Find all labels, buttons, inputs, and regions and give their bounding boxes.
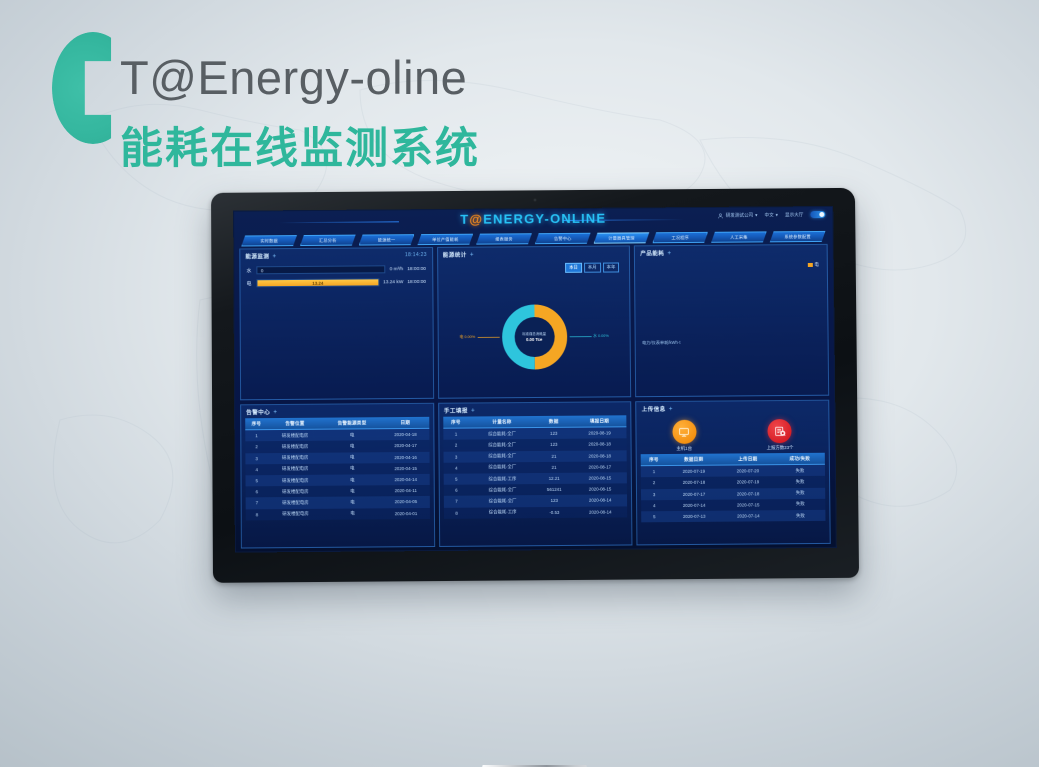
monitor: T@ENERGY-ONLINE 研发测试公司 ▾ 中文 ▾ 显示大厅 bbox=[212, 190, 857, 580]
table-cell: 4 bbox=[641, 500, 667, 511]
chart-legend: 电 bbox=[807, 262, 818, 268]
panel-header: 产品能耗 ＋ bbox=[635, 245, 827, 259]
table-cell: 123 bbox=[536, 495, 573, 507]
panel-title: 产品能耗 bbox=[640, 249, 664, 257]
table-cell: 2020-07-15 bbox=[721, 499, 775, 511]
column-header: 告警位置 bbox=[268, 418, 323, 430]
legend-swatch bbox=[807, 263, 812, 267]
column-header: 序号 bbox=[641, 454, 667, 466]
table-cell: 4 bbox=[443, 462, 469, 473]
manual-table: 序号计量名称数据填报日期1综合能耗-全厂1232020-08-192综合能耗-全… bbox=[443, 415, 628, 518]
panel-title: 能源统计 bbox=[443, 251, 467, 259]
range-btn-1[interactable]: 本月 bbox=[584, 263, 601, 273]
upload-table-wrap: 序号数据日期上传日期成功/失败12020-07-192020-07-20失败22… bbox=[637, 453, 829, 523]
range-btn-0[interactable]: 本日 bbox=[565, 263, 582, 273]
table-cell: 综合能耗-全厂 bbox=[469, 495, 535, 507]
column-header: 序号 bbox=[245, 418, 267, 430]
manual-table-wrap: 序号计量名称数据填报日期1综合能耗-全厂1232020-08-192综合能耗-全… bbox=[439, 415, 632, 518]
column-header: 日期 bbox=[382, 417, 429, 429]
table-cell: 3 bbox=[245, 453, 267, 464]
monitor-screen: T@ENERGY-ONLINE 研发测试公司 ▾ 中文 ▾ 显示大厅 bbox=[233, 206, 837, 553]
nav-item-label: 告警中心 bbox=[554, 235, 572, 241]
table-cell: 1 bbox=[641, 466, 667, 478]
user-area: 研发测试公司 ▾ 中文 ▾ 显示大厅 bbox=[718, 211, 826, 219]
nav-item-label: 工况程序 bbox=[671, 234, 689, 240]
webcam-icon bbox=[533, 198, 537, 202]
alarm-table: 序号告警位置告警能源类型日期1研发楼配电房电2020-04-182研发楼配电房电… bbox=[245, 417, 429, 520]
panel-energy-monitor: 能源监测 ＋ 18:14:23 水00 m³/h18:00:00电13.2413… bbox=[239, 247, 434, 400]
column-header: 填报日期 bbox=[572, 415, 627, 427]
table-cell: 8 bbox=[246, 509, 268, 520]
donut-center-label: 标准煤总消耗量 0.00 Tce bbox=[514, 317, 554, 357]
nav-item-1[interactable]: 汇总分析 bbox=[300, 235, 356, 246]
energy-bar-stamp: 18:00:00 bbox=[407, 266, 426, 271]
table-cell: 5 bbox=[642, 511, 668, 522]
column-header: 数据 bbox=[535, 416, 572, 428]
alarm-table-wrap: 序号告警位置告警能源类型日期1研发楼配电房电2020-04-182研发楼配电房电… bbox=[241, 417, 433, 520]
nav-item-9[interactable]: 系统参数配置 bbox=[770, 231, 826, 242]
column-header: 告警能源类型 bbox=[322, 417, 381, 429]
panel-header: 能源统计 ＋ bbox=[438, 246, 630, 260]
table-cell: 7 bbox=[246, 498, 268, 509]
upload-stat-icons: 主机1台 上报方数23个 bbox=[637, 414, 829, 455]
fullscreen-label: 显示大厅 bbox=[785, 212, 803, 218]
table-cell: 研发楼配电房 bbox=[268, 452, 323, 464]
panel-title: 告警中心 bbox=[246, 408, 270, 416]
user-account[interactable]: 研发测试公司 ▾ bbox=[718, 212, 758, 218]
donut-label-right: 水 0.00% bbox=[569, 334, 609, 339]
table-cell: 2020-07-19 bbox=[721, 477, 775, 489]
energy-bar-label: 电 bbox=[246, 280, 252, 287]
panel-title: 上传信息 bbox=[642, 405, 666, 413]
column-header: 计量名称 bbox=[469, 416, 535, 428]
nav-item-2[interactable]: 能源统一 bbox=[359, 234, 415, 245]
nav-item-label: 计量器具管理 bbox=[608, 235, 634, 241]
nav-item-label: 汇总分析 bbox=[319, 237, 337, 243]
donut-ring: 标准煤总消耗量 0.00 Tce 电 0.00% 水 0.00% bbox=[501, 304, 567, 370]
table-cell: 2020-04-01 bbox=[382, 507, 429, 519]
table-cell: 2020-08-14 bbox=[573, 495, 628, 507]
user-name: 研发测试公司 bbox=[726, 212, 754, 218]
upload-stat-reports[interactable]: 上报方数23个 bbox=[766, 419, 793, 451]
table-cell: 2 bbox=[443, 440, 469, 451]
table-cell: 123 bbox=[535, 439, 572, 450]
table-cell: 失败 bbox=[775, 464, 825, 476]
nav-item-5[interactable]: 告警中心 bbox=[535, 233, 591, 244]
table-cell: 失败 bbox=[775, 487, 825, 499]
logo-at-icon: @ bbox=[469, 212, 483, 227]
table-cell: 2020-07-13 bbox=[667, 511, 721, 523]
table-cell: 2020-07-18 bbox=[667, 477, 721, 489]
donut-center-value: 0.00 Tce bbox=[526, 336, 542, 341]
user-icon bbox=[718, 212, 724, 218]
table-row[interactable]: 52020-07-132020-07-14失败 bbox=[642, 510, 826, 523]
table-cell: 综合能耗-全厂 bbox=[469, 439, 535, 451]
server-icon bbox=[672, 420, 696, 444]
brand-title: T@Energy-oline bbox=[120, 50, 467, 105]
table-cell: 综合能耗-全厂 bbox=[469, 428, 535, 440]
table-cell: 6 bbox=[246, 486, 268, 497]
energy-bar-list: 水00 m³/h18:00:00电13.2413.24 kW18:00:00 bbox=[240, 261, 432, 287]
panel-upload-info: 上传信息 ＋ 主机1台 bbox=[636, 400, 831, 546]
nav-item-8[interactable]: 人工采集 bbox=[711, 231, 767, 242]
table-cell: 2020-08-17 bbox=[573, 461, 628, 473]
table-cell: 8 bbox=[444, 507, 470, 518]
table-cell: 561241 bbox=[536, 484, 573, 495]
energy-bar-reading: 0 m³/h bbox=[390, 267, 404, 272]
logo-t: T bbox=[460, 212, 469, 227]
column-header: 成功/失败 bbox=[775, 453, 825, 465]
donut-label-left: 电 0.00% bbox=[460, 335, 500, 340]
table-cell: 研发楼配电房 bbox=[268, 508, 323, 520]
language-label: 中文 bbox=[764, 212, 773, 218]
table-row[interactable]: 8研发楼配电房电2020-04-01 bbox=[246, 507, 430, 520]
table-cell: 2020-08-19 bbox=[572, 427, 627, 439]
energy-bar-label: 水 bbox=[246, 267, 252, 274]
nav-item-4[interactable]: 报表服务 bbox=[476, 233, 532, 244]
chevron-down-icon: ▾ bbox=[755, 212, 757, 218]
table-cell: 2020-08-18 bbox=[572, 439, 627, 451]
table-cell: 2020-08-15 bbox=[573, 472, 628, 484]
upload-stat-host-caption: 主机1台 bbox=[676, 446, 692, 452]
table-cell: 综合能耗-工序 bbox=[469, 473, 535, 485]
report-search-icon bbox=[768, 419, 792, 443]
table-cell: 2020-04-17 bbox=[382, 440, 429, 452]
table-cell: 123 bbox=[535, 427, 572, 439]
column-header: 序号 bbox=[443, 417, 469, 429]
language-switch[interactable]: 中文 ▾ bbox=[764, 212, 778, 218]
dashboard-row-bottom: 告警中心 ＋ 序号告警位置告警能源类型日期1研发楼配电房电2020-04-182… bbox=[240, 400, 831, 549]
table-cell: 研发楼配电房 bbox=[268, 486, 323, 498]
expand-icon[interactable]: ＋ bbox=[272, 253, 276, 259]
nav-item-0[interactable]: 实时数据 bbox=[241, 235, 297, 246]
table-cell: 失败 bbox=[775, 476, 825, 488]
legend-label: 电 bbox=[814, 262, 818, 268]
table-cell: 2020-07-14 bbox=[721, 510, 775, 522]
nav-item-7[interactable]: 工况程序 bbox=[652, 232, 708, 243]
brand-subtitle: 能耗在线监测系统 bbox=[120, 114, 480, 176]
table-cell: 1 bbox=[443, 428, 469, 440]
table-cell: 电 bbox=[322, 441, 381, 453]
table-cell: 21 bbox=[535, 461, 572, 472]
expand-icon[interactable]: ＋ bbox=[470, 252, 474, 258]
energy-bar-reading: 13.24 kW bbox=[383, 280, 403, 285]
expand-icon[interactable]: ＋ bbox=[669, 406, 673, 412]
table-cell: 研发楼配电房 bbox=[268, 497, 323, 509]
app-logo: T@ENERGY-ONLINE bbox=[460, 211, 606, 227]
table-cell: 2020-07-18 bbox=[721, 488, 775, 500]
table-cell: 研发楼配电房 bbox=[268, 463, 323, 475]
expand-icon[interactable]: ＋ bbox=[667, 250, 671, 256]
range-toggle-group: 本日本月本年 bbox=[565, 262, 619, 272]
table-cell: 2020-04-15 bbox=[382, 463, 429, 475]
table-cell: 7 bbox=[443, 496, 469, 507]
logo-wing-left bbox=[279, 221, 399, 223]
table-cell: 综合能耗-全厂 bbox=[469, 462, 535, 474]
table-cell: 2020-04-05 bbox=[382, 496, 429, 508]
donut-label-right-text: 水 0.00% bbox=[593, 334, 609, 339]
energy-bar-row: 水00 m³/h18:00:00 bbox=[246, 265, 426, 274]
table-cell: 电 bbox=[323, 508, 382, 520]
table-cell: 2020-07-14 bbox=[667, 499, 721, 511]
table-cell: 2020-07-19 bbox=[667, 465, 721, 477]
table-cell: 电 bbox=[323, 497, 382, 509]
display-toggle[interactable] bbox=[810, 211, 825, 218]
table-cell: 综合能耗-全厂 bbox=[469, 484, 535, 496]
range-btn-2[interactable]: 本年 bbox=[603, 262, 620, 272]
energy-bar-value: 0 bbox=[261, 268, 263, 273]
table-cell: -0.53 bbox=[536, 506, 573, 518]
table-cell: 1 bbox=[245, 430, 267, 442]
panel-product-energy: 产品能耗 ＋ 电 电力/仪表单耗/kWh·t bbox=[634, 244, 829, 397]
donut-chart: 标准煤总消耗量 0.00 Tce 电 0.00% 水 0.00% bbox=[438, 282, 630, 391]
table-cell: 电 bbox=[323, 485, 382, 497]
table-cell: 2020-04-11 bbox=[382, 485, 429, 497]
column-header: 数据日期 bbox=[667, 454, 721, 466]
table-cell: 2020-07-17 bbox=[667, 488, 721, 500]
upload-stat-host[interactable]: 主机1台 bbox=[672, 420, 696, 452]
table-cell: 4 bbox=[245, 464, 267, 475]
panel-title: 能源监测 bbox=[245, 252, 269, 260]
table-cell: 电 bbox=[323, 474, 382, 486]
chevron-down-icon: ▾ bbox=[776, 212, 778, 218]
nav-item-6[interactable]: 计量器具管理 bbox=[594, 232, 650, 243]
energy-bar-track: 13.24 bbox=[257, 278, 380, 287]
table-cell: 失败 bbox=[775, 499, 825, 511]
table-cell: 失败 bbox=[775, 510, 825, 522]
table-cell: 研发楼配电房 bbox=[268, 475, 323, 487]
panel-energy-stats: 能源统计 ＋ 本日本月本年 标准煤总消耗量 bbox=[437, 245, 632, 398]
current-time: 18:14:23 bbox=[405, 252, 427, 258]
upload-stat-reports-caption: 上报方数23个 bbox=[767, 445, 794, 451]
brand-block: T@Energy-oline 能耗在线监测系统 bbox=[52, 26, 612, 156]
expand-icon[interactable]: ＋ bbox=[471, 407, 475, 413]
table-cell: 6 bbox=[443, 485, 469, 496]
table-cell: 2020-04-18 bbox=[382, 429, 429, 441]
energy-bar-track: 0 bbox=[257, 265, 386, 274]
table-cell: 2020-04-14 bbox=[382, 474, 429, 486]
dashboard-row-top: 能源监测 ＋ 18:14:23 水00 m³/h18:00:00电13.2413… bbox=[239, 244, 829, 400]
table-cell: 研发楼配电房 bbox=[268, 441, 323, 453]
table-cell: 综合能耗-全厂 bbox=[469, 451, 535, 463]
table-cell: 2020-07-20 bbox=[721, 465, 775, 477]
energy-bar-fill: 13.24 bbox=[258, 279, 379, 286]
nav-item-label: 实时数据 bbox=[260, 238, 278, 244]
nav-item-label: 单位产值能耗 bbox=[432, 236, 458, 242]
table-cell: 5 bbox=[246, 475, 268, 486]
table-cell: 12.21 bbox=[536, 473, 573, 484]
dashboard-grid: 能源监测 ＋ 18:14:23 水00 m³/h18:00:00电13.2413… bbox=[239, 244, 830, 549]
table-cell: 21 bbox=[535, 450, 572, 461]
panel-alarm-center: 告警中心 ＋ 序号告警位置告警能源类型日期1研发楼配电房电2020-04-182… bbox=[240, 403, 435, 549]
expand-icon[interactable]: ＋ bbox=[273, 409, 277, 415]
fullscreen-switch[interactable]: 显示大厅 bbox=[785, 212, 803, 218]
upload-table: 序号数据日期上传日期成功/失败12020-07-192020-07-20失败22… bbox=[641, 453, 825, 523]
table-cell: 综合能耗-工序 bbox=[469, 507, 536, 519]
nav-item-3[interactable]: 单位产值能耗 bbox=[417, 234, 473, 245]
nav-item-label: 能源统一 bbox=[378, 237, 396, 243]
dashboard-app: T@ENERGY-ONLINE 研发测试公司 ▾ 中文 ▾ 显示大厅 bbox=[233, 206, 837, 553]
table-cell: 3 bbox=[641, 489, 667, 500]
table-cell: 2020-08-15 bbox=[573, 483, 628, 495]
table-cell: 研发楼配电房 bbox=[268, 429, 323, 441]
table-row[interactable]: 8综合能耗-工序-0.532020-08-14 bbox=[444, 506, 628, 519]
logo-rest: ENERGY-ONLINE bbox=[483, 211, 606, 227]
table-cell: 3 bbox=[443, 451, 469, 462]
column-header: 上传日期 bbox=[721, 453, 775, 465]
table-cell: 2020-08-14 bbox=[573, 506, 628, 518]
panel-title: 手工填报 bbox=[444, 407, 468, 415]
table-cell: 2020-08-18 bbox=[572, 450, 627, 462]
app-topbar: T@ENERGY-ONLINE 研发测试公司 ▾ 中文 ▾ 显示大厅 bbox=[233, 206, 833, 235]
table-cell: 2020-04-16 bbox=[382, 451, 429, 463]
table-cell: 2 bbox=[641, 477, 667, 488]
nav-item-label: 系统参数配置 bbox=[784, 234, 810, 240]
table-cell: 2 bbox=[245, 441, 267, 452]
energy-bar-stamp: 18:00:00 bbox=[407, 279, 426, 284]
table-cell: 电 bbox=[323, 463, 382, 475]
nav-item-label: 人工采集 bbox=[730, 234, 748, 240]
energy-bar-row: 电13.2413.24 kW18:00:00 bbox=[246, 278, 426, 287]
donut-label-left-text: 电 0.00% bbox=[460, 335, 476, 340]
nav-item-label: 报表服务 bbox=[495, 236, 513, 242]
y-axis-label: 电力/仪表单耗/kWh·t bbox=[642, 340, 680, 346]
table-cell: 电 bbox=[323, 452, 382, 464]
table-cell: 5 bbox=[443, 474, 469, 485]
panel-manual-report: 手工填报 ＋ 序号计量名称数据填报日期1综合能耗-全厂1232020-08-19… bbox=[438, 401, 633, 547]
table-cell: 电 bbox=[322, 429, 381, 441]
